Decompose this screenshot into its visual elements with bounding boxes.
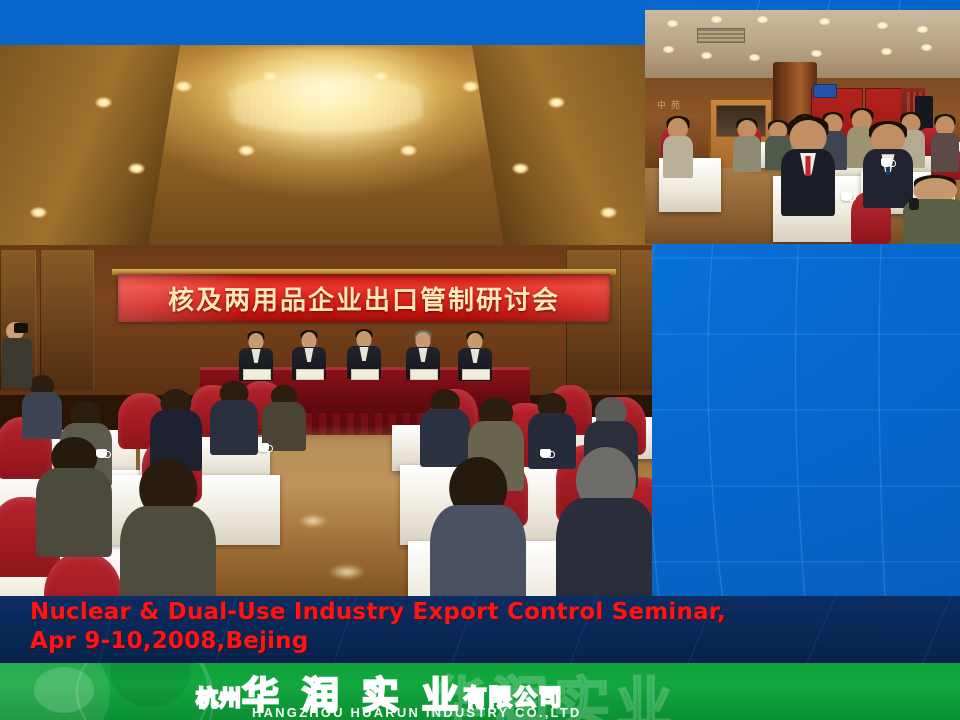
seminar-banner: 核及两用品企业出口管制研讨会 <box>118 274 610 322</box>
tr-delegate <box>931 116 959 172</box>
slide-title-line2: Apr 9-10,2008,Bejing <box>30 628 308 654</box>
audience-member <box>120 459 216 596</box>
chandelier <box>161 47 491 177</box>
logo-prefix: 杭州 <box>196 687 242 712</box>
title-band: Nuclear & Dual-Use Industry Export Contr… <box>0 596 960 664</box>
audience-member <box>210 381 258 455</box>
tr-delegate <box>733 120 761 172</box>
slide-title: Nuclear & Dual-Use Industry Export Contr… <box>30 598 726 656</box>
audience-member <box>262 385 306 451</box>
seminar-banner-text: 核及两用品企业出口管制研讨会 <box>168 280 560 317</box>
audience-member <box>430 457 526 596</box>
presentation-slide: 核及两用品企业出口管制研讨会 <box>0 0 960 720</box>
audience-member <box>556 447 652 596</box>
photo-delegates: 中 苑 <box>645 10 960 244</box>
tr-delegate <box>663 118 693 178</box>
photo-conference-hall: 核及两用品企业出口管制研讨会 <box>0 45 652 596</box>
tr-screen <box>813 84 837 98</box>
company-logo: 杭州华 润 实 业有限公司 HANGZHOU HUARUN INDUSTRY C… <box>196 665 666 719</box>
audience-member <box>420 389 470 467</box>
photographer <box>2 322 32 388</box>
footer-bar: 华润实业 杭州华 润 实 业有限公司 HANGZHOU HUARUN INDUS… <box>0 663 960 720</box>
top-blue-strip <box>0 0 648 46</box>
company-logo-english: HANGZHOU HUARUN INDUSTRY CO.,LTD <box>252 705 581 720</box>
tr-delegate-foreground <box>781 120 835 216</box>
slide-title-line1: Nuclear & Dual-Use Industry Export Contr… <box>30 599 726 625</box>
tr-delegate-headset <box>903 178 960 244</box>
tr-ceiling-vent <box>697 28 745 43</box>
tr-wall-logo: 中 苑 <box>657 98 681 111</box>
